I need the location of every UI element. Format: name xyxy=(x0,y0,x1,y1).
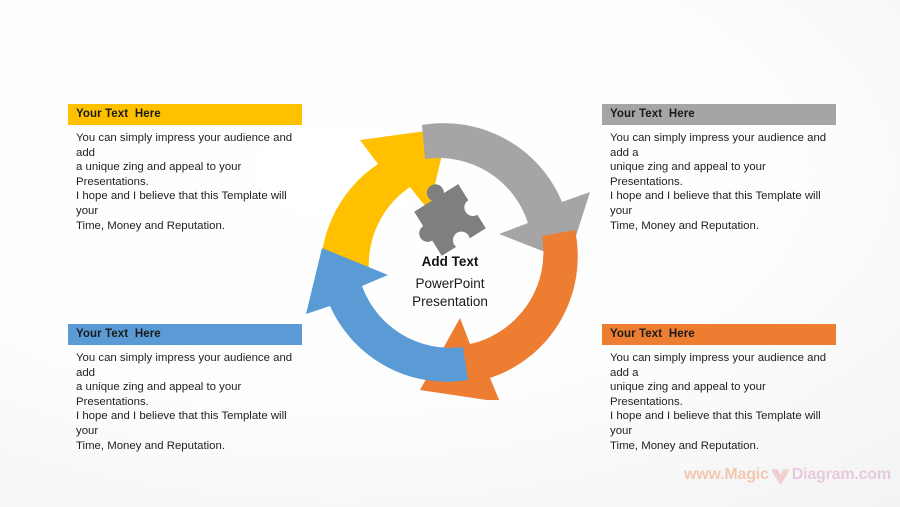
block-header-top-left[interactable]: Your Text Here xyxy=(68,104,302,125)
block-header-bottom-right[interactable]: Your Text Here xyxy=(602,324,836,345)
block-body-top-right: You can simply impress your audience and… xyxy=(602,131,836,233)
bowtie-logo-icon xyxy=(770,466,791,487)
watermark-prefix: www.Magic xyxy=(684,466,769,484)
cycle-diagram xyxy=(300,110,600,400)
watermark-suffix: Diagram.com xyxy=(792,466,891,484)
block-body-top-left: You can simply impress your audience and… xyxy=(68,131,302,233)
block-header-bottom-left[interactable]: Your Text Here xyxy=(68,324,302,345)
text-block-bottom-right[interactable]: Your Text Here You can simply impress yo… xyxy=(602,324,836,453)
text-block-top-right[interactable]: Your Text Here You can simply impress yo… xyxy=(602,104,836,233)
watermark: www.Magic Diagram.com xyxy=(684,464,891,486)
block-body-bottom-right: You can simply impress your audience and… xyxy=(602,351,836,453)
text-block-top-left[interactable]: Your Text Here You can simply impress yo… xyxy=(68,104,302,233)
block-body-bottom-left: You can simply impress your audience and… xyxy=(68,351,302,453)
block-header-top-right[interactable]: Your Text Here xyxy=(602,104,836,125)
text-block-bottom-left[interactable]: Your Text Here You can simply impress yo… xyxy=(68,324,302,453)
slide-canvas: Your Text Here You can simply impress yo… xyxy=(0,0,900,507)
blue-arrow[interactable] xyxy=(306,248,468,382)
